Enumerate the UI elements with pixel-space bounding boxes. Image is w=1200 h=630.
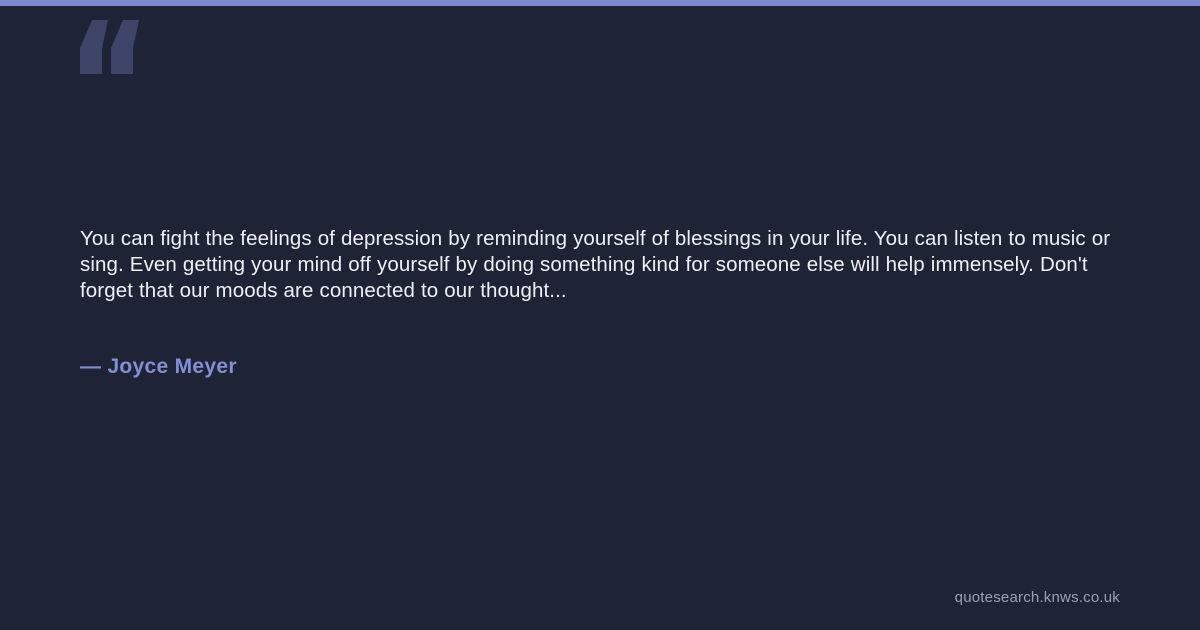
quote-text: You can fight the feelings of depression… xyxy=(80,226,1135,303)
author-name: Joyce Meyer xyxy=(107,355,236,378)
quote-attribution: — Joyce Meyer xyxy=(80,353,237,381)
footer: quotesearch.knws.co.uk xyxy=(520,588,1120,608)
left-double-quotation-mark-icon xyxy=(78,18,148,90)
quote-card: You can fight the feelings of depression… xyxy=(0,0,1200,630)
attribution-dash: — xyxy=(80,355,101,378)
top-accent-bar xyxy=(0,0,1200,6)
source-url: quotesearch.knws.co.uk xyxy=(955,589,1120,606)
